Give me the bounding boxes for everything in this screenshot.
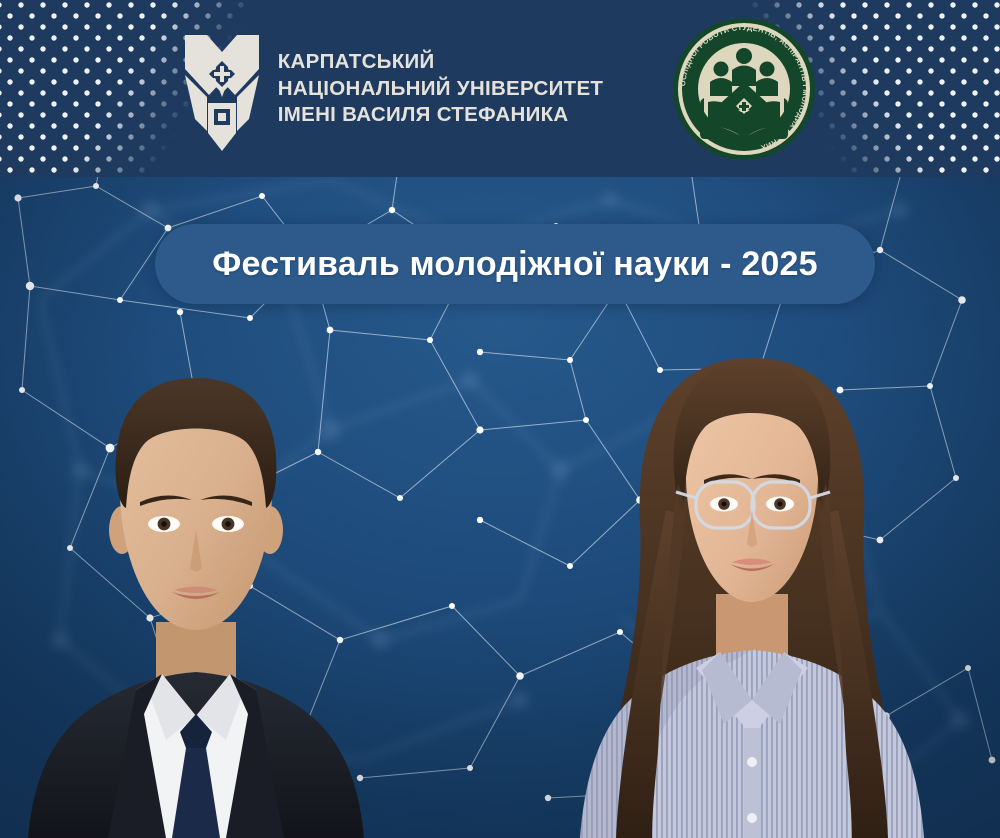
university-name-line-1: КАРПАТСЬКИЙ (278, 50, 604, 74)
university-name-block: КАРПАТСЬКИЙ НАЦІОНАЛЬНИЙ УНІВЕРСИТЕТ ІМЕ… (278, 50, 604, 127)
seal-city-label: Івано-Франківськ (724, 134, 765, 140)
male-speaker-portrait (16, 354, 376, 838)
header-bar: КАРПАТСЬКИЙ НАЦІОНАЛЬНИЙ УНІВЕРСИТЕТ ІМЕ… (0, 0, 1000, 177)
carpathian-shield-logo-icon (183, 23, 261, 155)
university-name-line-3: ІМЕНІ ВАСИЛЯ СТЕФАНИКА (278, 103, 604, 127)
event-title-text: Фестиваль молодіжної науки - 2025 (212, 245, 818, 284)
event-title-banner: Фестиваль молодіжної науки - 2025 (155, 224, 875, 304)
university-branding: КАРПАТСЬКИЙ НАЦІОНАЛЬНИЙ УНІВЕРСИТЕТ ІМЕ… (183, 23, 604, 155)
female-speaker-portrait (556, 332, 948, 838)
poster-canvas: КАРПАТСЬКИЙ НАЦІОНАЛЬНИЙ УНІВЕРСИТЕТ ІМЕ… (0, 0, 1000, 838)
header-content: КАРПАТСЬКИЙ НАЦІОНАЛЬНИЙ УНІВЕРСИТЕТ ІМЕ… (0, 0, 1000, 177)
student-research-council-seal-icon: РАДА З НАУКОВО-ДОСЛІДНОЇ РОБОТИ СТУДЕНТІ… (671, 16, 817, 162)
university-name-line-2: НАЦІОНАЛЬНИЙ УНІВЕРСИТЕТ (278, 77, 604, 101)
